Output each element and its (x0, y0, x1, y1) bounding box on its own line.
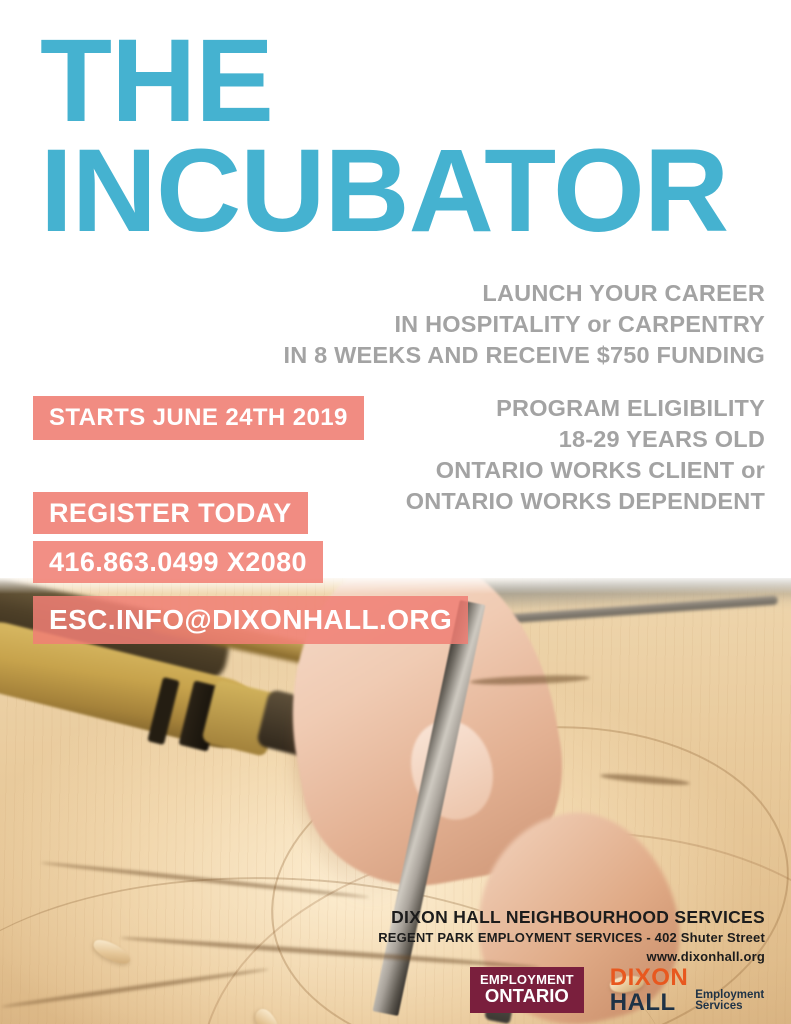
dixon-hall-line-2: HALL (610, 991, 689, 1015)
title-line-1: THE (40, 24, 770, 140)
start-date-badge: STARTS JUNE 24TH 2019 (33, 396, 364, 440)
subtitle-line-3: IN 8 WEEKS AND RECEIVE $750 FUNDING (225, 340, 765, 371)
footer-organization: DIXON HALL NEIGHBOURHOOD SERVICES (245, 906, 765, 929)
subtitle-line-2-b: CARPENTRY (611, 311, 765, 337)
dixon-hall-wordmark: DIXON HALL (610, 966, 689, 1015)
dixon-hall-subtitle: Employment Services (695, 990, 764, 1015)
subtitle-line-2-a: IN HOSPITALITY (394, 311, 587, 337)
dixon-hall-logo: DIXON HALL Employment Services (610, 966, 765, 1015)
dixon-hall-line-1: DIXON (610, 966, 689, 990)
employment-ontario-line-2: ONTARIO (480, 987, 574, 1006)
eligibility-line-2-a: ONTARIO WORKS CLIENT (436, 457, 741, 483)
subtitle-line-1: LAUNCH YOUR CAREER (225, 278, 765, 309)
subtitle-line-2: IN HOSPITALITY or CARPENTRY (225, 309, 765, 340)
register-today-badge: REGISTER TODAY (33, 492, 308, 534)
subtitle-block: LAUNCH YOUR CAREER IN HOSPITALITY or CAR… (225, 278, 765, 371)
phone-badge[interactable]: 416.863.0499 X2080 (33, 541, 323, 583)
dixon-hall-sub-2: Services (695, 1001, 764, 1013)
eligibility-line-2: ONTARIO WORKS CLIENT or (225, 455, 765, 486)
email-badge[interactable]: ESC.INFO@DIXONHALL.ORG (33, 596, 468, 644)
page-title: THE INCUBATOR (40, 24, 770, 249)
eligibility-line-2-or: or (741, 457, 765, 483)
title-line-2: INCUBATOR (40, 134, 770, 250)
footer-block: DIXON HALL NEIGHBOURHOOD SERVICES REGENT… (245, 906, 765, 966)
footer-address: REGENT PARK EMPLOYMENT SERVICES - 402 Sh… (245, 929, 765, 948)
logo-row: EMPLOYMENT ONTARIO DIXON HALL Employment… (470, 962, 770, 1018)
subtitle-line-2-or: or (587, 311, 611, 337)
employment-ontario-logo: EMPLOYMENT ONTARIO (470, 967, 584, 1013)
